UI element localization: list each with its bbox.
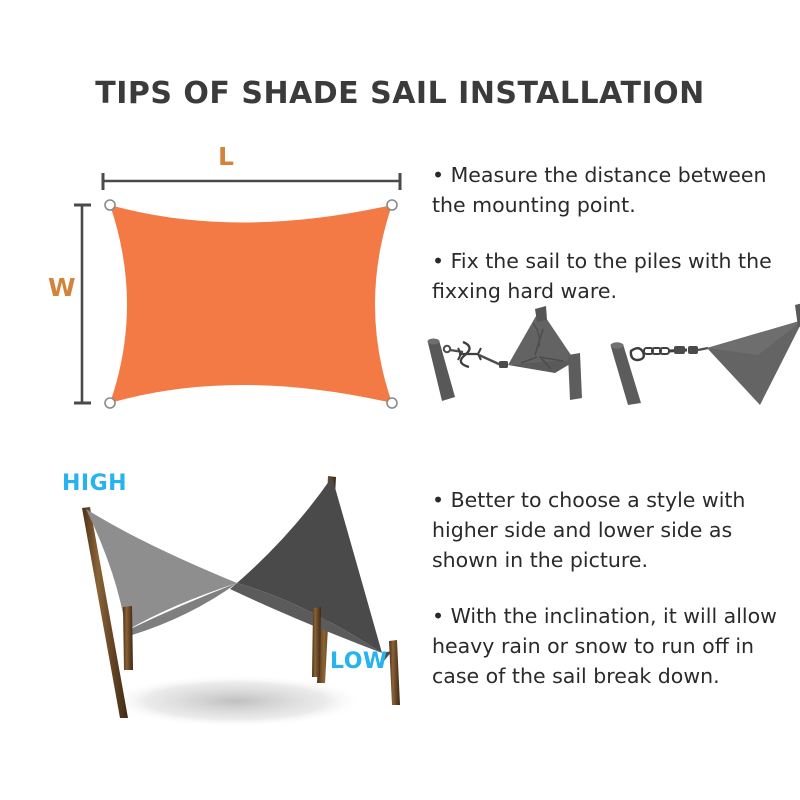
width-label: W: [48, 273, 76, 302]
width-dimension-line: [74, 205, 91, 403]
instruction-line: • With the inclination, it will allow: [432, 601, 800, 631]
post-mid-right: [312, 607, 321, 677]
instruction-line: higher side and lower side as: [432, 515, 800, 545]
dimension-diagram-svg: [40, 145, 430, 435]
low-side-label: LOW: [330, 649, 388, 674]
ground-shadow: [108, 675, 364, 727]
instruction-inclination: • With the inclination, it will allow he…: [432, 601, 800, 691]
length-dimension-line: [103, 173, 400, 190]
support-post-icon: [568, 353, 582, 400]
shackle-icon: [688, 346, 708, 354]
instructions-top: • Measure the distance between the mount…: [432, 160, 800, 300]
sail-corner-icon: [508, 306, 575, 373]
post-front-right: [389, 640, 400, 705]
shade-sail-installation-infographic: TIPS OF SHADE SAIL INSTALLATION L W: [0, 0, 800, 800]
sail-corner-icon: [707, 302, 800, 405]
hardware-diagram-panel: [425, 295, 800, 405]
structure-diagram-panel: HIGH LOW: [40, 455, 430, 755]
instruction-line: case of the sail break down.: [432, 661, 800, 691]
structure-diagram-svg: [40, 455, 430, 755]
instructions-bottom: • Better to choose a style with higher s…: [432, 485, 800, 695]
chain-icon: [644, 348, 669, 354]
length-label: L: [218, 142, 234, 171]
high-side-label: HIGH: [62, 471, 127, 496]
instruction-measure-distance: • Measure the distance between the mount…: [432, 160, 800, 220]
mounting-post-icon: [611, 342, 642, 405]
orange-shade-sail: [110, 205, 392, 403]
instruction-line: the mounting point.: [432, 190, 800, 220]
page-title: TIPS OF SHADE SAIL INSTALLATION: [0, 76, 800, 111]
shackle-icon: [479, 355, 508, 368]
instruction-line: • Measure the distance between: [432, 160, 800, 190]
shade-sail-dark: [230, 477, 392, 661]
carabiner-icon: [631, 348, 644, 360]
dimension-diagram-panel: L W: [40, 145, 430, 435]
hardware-left-assembly: [428, 306, 583, 401]
instruction-line: shown in the picture.: [432, 545, 800, 575]
post-front-left: [123, 606, 133, 670]
hardware-right-assembly: [611, 302, 800, 405]
instruction-choose-style: • Better to choose a style with higher s…: [432, 485, 800, 575]
turnbuckle-icon: [669, 346, 687, 354]
instruction-line: • Fix the sail to the piles with the: [432, 246, 800, 276]
instruction-line: heavy rain or snow to run off in: [432, 631, 800, 661]
hardware-diagram-svg: [425, 295, 800, 405]
turnbuckle-icon: [458, 342, 481, 367]
instruction-line: • Better to choose a style with: [432, 485, 800, 515]
